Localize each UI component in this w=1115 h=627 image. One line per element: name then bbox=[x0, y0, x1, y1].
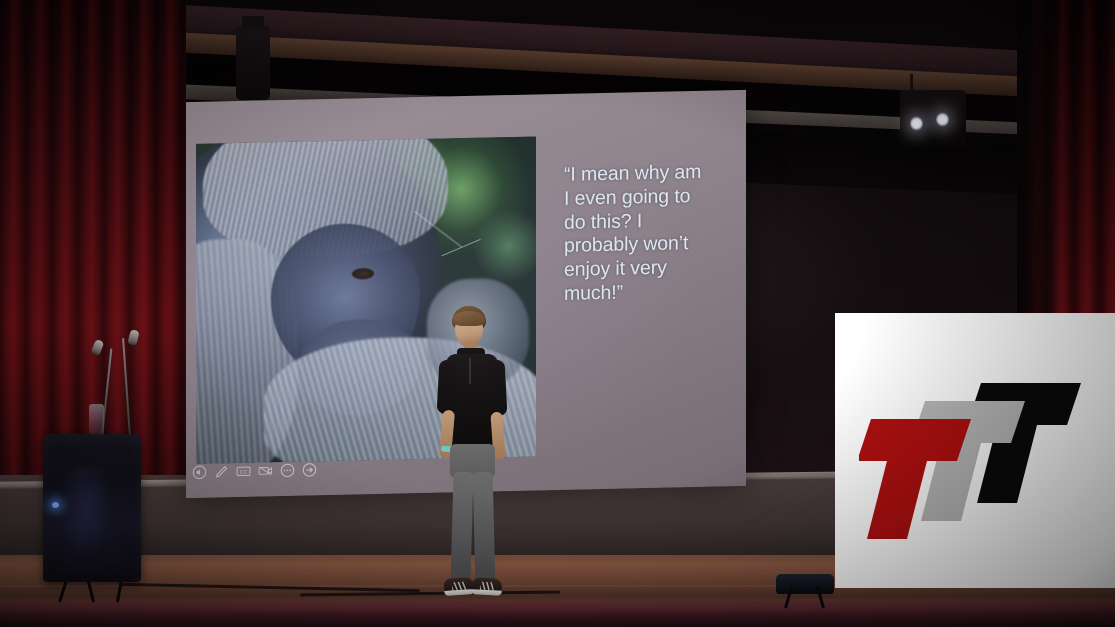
monitor-leg-2 bbox=[87, 580, 95, 602]
water-bottle bbox=[89, 404, 104, 436]
lamp-left bbox=[910, 116, 923, 131]
more-options-icon[interactable] bbox=[280, 463, 295, 478]
stage-monitor-speaker-left bbox=[43, 434, 141, 582]
stage-monitor-wedge-right bbox=[776, 574, 834, 594]
slide-quote-text: “I mean why am I even going to do this? … bbox=[564, 161, 716, 307]
speaker-leg-right bbox=[473, 472, 496, 584]
volume-icon[interactable] bbox=[192, 465, 207, 480]
speaker-person bbox=[424, 306, 520, 606]
speaker-hair-front bbox=[453, 311, 485, 326]
speaker-leg-left bbox=[450, 472, 473, 585]
pen-icon[interactable] bbox=[214, 464, 229, 479]
monitor-sheen bbox=[55, 467, 118, 571]
speaker-shoe-right bbox=[472, 577, 503, 596]
slide-media-controls[interactable]: CC bbox=[192, 462, 317, 480]
stage-scene: “I mean why am I even going to do this? … bbox=[0, 0, 1115, 627]
ttt-logo bbox=[859, 355, 1099, 555]
speaker-sleeve-left bbox=[437, 360, 458, 415]
closed-captions-icon[interactable]: CC bbox=[236, 464, 251, 479]
stage-light-right bbox=[900, 90, 966, 148]
speaker-sleeve-right bbox=[487, 360, 508, 417]
monitor-leg-3 bbox=[116, 580, 123, 602]
next-slide-icon[interactable] bbox=[302, 462, 317, 477]
wedge-monitor-legs bbox=[778, 592, 832, 608]
lamp-right bbox=[936, 112, 949, 127]
video-off-icon[interactable] bbox=[258, 463, 273, 478]
ttt-logo-panel bbox=[835, 313, 1115, 588]
speaker-shoe-left bbox=[443, 577, 474, 596]
monitor-leg-1 bbox=[58, 581, 68, 603]
stage-front-edge bbox=[0, 601, 1115, 627]
monitor-power-led bbox=[52, 502, 59, 508]
shoe-sole-left bbox=[444, 589, 474, 596]
speaker-shirt-placket bbox=[469, 358, 471, 384]
monitor-stand-legs bbox=[40, 576, 146, 602]
stage-light-left bbox=[236, 26, 270, 100]
shoe-sole-right bbox=[472, 589, 502, 596]
svg-text:CC: CC bbox=[240, 470, 248, 476]
